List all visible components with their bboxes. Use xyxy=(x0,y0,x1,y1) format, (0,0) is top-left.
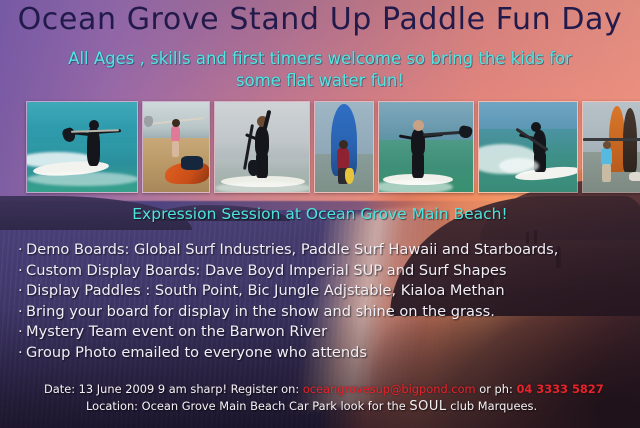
photo-girl-with-paddle-on-sand-and-kayak xyxy=(142,101,210,193)
photo3-paddle-blade xyxy=(248,160,259,176)
expression-session-headline: Expression Session at Ocean Grove Main B… xyxy=(0,205,640,223)
registration-email-link[interactable]: oceangrovesup@bigpond.com xyxy=(303,382,476,396)
bullet-dot-icon: · xyxy=(18,322,26,343)
soul-club-name: SOUL xyxy=(409,399,446,414)
photo2-kayak-gear xyxy=(181,156,203,170)
list-item-label: Group Photo emailed to everyone who atte… xyxy=(26,344,367,361)
footer-date-label: Date: 13 June 2009 9 am sharp! Register … xyxy=(44,382,299,396)
photo-paddler-arm-raised-grey-sky xyxy=(214,101,310,193)
list-item: ·Display Paddles : South Point, Bic Jung… xyxy=(18,281,628,302)
photo3-foam xyxy=(215,182,310,193)
bullet-dot-icon: · xyxy=(18,240,26,261)
photo2-paddle-blade xyxy=(144,116,153,127)
poster-title: Ocean Grove Stand Up Paddle Fun Day xyxy=(0,2,640,37)
list-item-label: Custom Display Boards: Dave Boyd Imperia… xyxy=(26,262,506,279)
bullet-dot-icon: · xyxy=(18,343,26,364)
photo1-rider-head xyxy=(89,120,99,130)
photo7-boy-head xyxy=(603,141,611,149)
poster-subtitle: All Ages , skills and first timers welco… xyxy=(28,48,612,92)
bullet-dot-icon: · xyxy=(18,302,26,323)
photo-strip xyxy=(26,101,618,193)
subtitle-line-1: All Ages , skills and first timers welco… xyxy=(28,48,612,70)
list-item-label: Mystery Team event on the Barwon River xyxy=(26,323,327,340)
photo-man-paddling-green-water xyxy=(378,101,474,193)
subtitle-line-2: some flat water fun! xyxy=(28,70,612,92)
poster-flyer: Ocean Grove Stand Up Paddle Fun Day All … xyxy=(0,0,640,428)
footer-or-phone-label: or ph: xyxy=(479,382,513,396)
bullet-dot-icon: · xyxy=(18,281,26,302)
list-item-label: Demo Boards: Global Surf Industries, Pad… xyxy=(26,241,558,258)
bullet-dot-icon: · xyxy=(18,261,26,282)
photo6-spray xyxy=(499,158,539,174)
photo-surfer-riding-wave-teal-water xyxy=(26,101,138,193)
details-bullet-list: ·Demo Boards: Global Surf Industries, Pa… xyxy=(18,240,628,364)
footer-date-line: Date: 13 June 2009 9 am sharp! Register … xyxy=(0,381,640,398)
photo2-girl-body xyxy=(171,126,180,142)
photo5-rider-head xyxy=(413,120,424,131)
photo6-sky xyxy=(479,102,577,129)
footer-location-line: Location: Ocean Grove Main Beach Car Par… xyxy=(0,398,640,415)
photo6-rider-head xyxy=(531,122,541,132)
photo4-paddle-blade xyxy=(345,168,354,184)
photo1-foam-trail xyxy=(27,172,138,186)
photo7-boy-legs xyxy=(602,164,611,182)
contact-phone-number: 04 3333 5827 xyxy=(516,382,603,396)
photo5-rider-legs xyxy=(412,152,424,178)
photo4-child-head xyxy=(339,140,348,149)
photo2-girl-head xyxy=(172,119,180,127)
photo-boy-standing-with-upright-boards xyxy=(582,101,640,193)
photo7-board-rail xyxy=(583,138,640,141)
footer-location-suffix: club Marquees. xyxy=(447,399,537,413)
list-item: ·Mystery Team event on the Barwon River xyxy=(18,322,628,343)
list-item-label: Bring your board for display in the show… xyxy=(26,303,495,320)
photo2-girl-legs xyxy=(172,141,179,157)
list-item: ·Demo Boards: Global Surf Industries, Pa… xyxy=(18,240,628,261)
list-item: ·Bring your board for display in the sho… xyxy=(18,302,628,323)
footer-contact-block: Date: 13 June 2009 9 am sharp! Register … xyxy=(0,381,640,415)
list-item: ·Group Photo emailed to everyone who att… xyxy=(18,343,628,364)
list-item-label: Display Paddles : South Point, Bic Jungl… xyxy=(26,282,505,299)
list-item: ·Custom Display Boards: Dave Boyd Imperi… xyxy=(18,261,628,282)
photo4-child-body xyxy=(337,148,349,170)
photo7-dog xyxy=(629,172,640,181)
photo-blue-paddle-board-upright xyxy=(314,101,374,193)
photo5-foam xyxy=(378,180,453,193)
photo1-water-upper xyxy=(27,102,137,143)
photo-surfer-on-white-water-wave xyxy=(478,101,578,193)
footer-location-prefix: Location: Ocean Grove Main Beach Car Par… xyxy=(86,399,409,413)
